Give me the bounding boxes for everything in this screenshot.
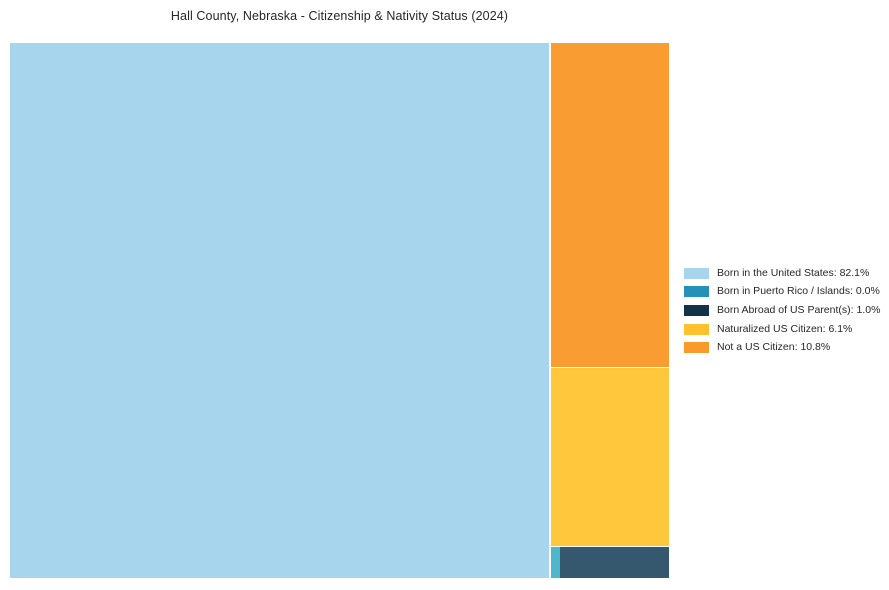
treemap-tile-born-in-the-united-states[interactable] xyxy=(10,43,549,578)
legend-item-label: Born in Puerto Rico / Islands: 0.0% xyxy=(717,286,880,297)
page-title: Hall County, Nebraska - Citizenship & Na… xyxy=(0,9,679,23)
legend-item-label: Not a US Citizen: 10.8% xyxy=(717,342,830,353)
legend-item[interactable]: Born in the United States: 82.1% xyxy=(684,264,884,283)
legend-item-label: Born Abroad of US Parent(s): 1.0% xyxy=(717,305,880,316)
treemap-tile-born-abroad-of-us-parents[interactable] xyxy=(560,547,669,578)
chart-legend: Born in the United States: 82.1%Born in … xyxy=(684,264,884,357)
treemap-tile-naturalized-us-citizen[interactable] xyxy=(551,368,669,546)
legend-item[interactable]: Naturalized US Citizen: 6.1% xyxy=(684,320,884,339)
legend-item-label: Naturalized US Citizen: 6.1% xyxy=(717,324,852,335)
legend-item[interactable]: Not a US Citizen: 10.8% xyxy=(684,338,884,357)
treemap-tile-born-in-puerto-rico-islands[interactable] xyxy=(551,547,560,578)
legend-swatch-icon xyxy=(684,324,709,335)
legend-swatch-icon xyxy=(684,268,709,279)
treemap-chart: Hall County, Nebraska - Citizenship & Na… xyxy=(0,0,889,590)
legend-swatch-icon xyxy=(684,342,709,353)
legend-item[interactable]: Born in Puerto Rico / Islands: 0.0% xyxy=(684,283,884,302)
treemap-plot-area xyxy=(10,43,669,578)
legend-item[interactable]: Born Abroad of US Parent(s): 1.0% xyxy=(684,301,884,320)
legend-item-label: Born in the United States: 82.1% xyxy=(717,268,869,279)
legend-swatch-icon xyxy=(684,286,709,297)
treemap-tile-not-a-us-citizen[interactable] xyxy=(551,43,669,367)
legend-swatch-icon xyxy=(684,305,709,316)
